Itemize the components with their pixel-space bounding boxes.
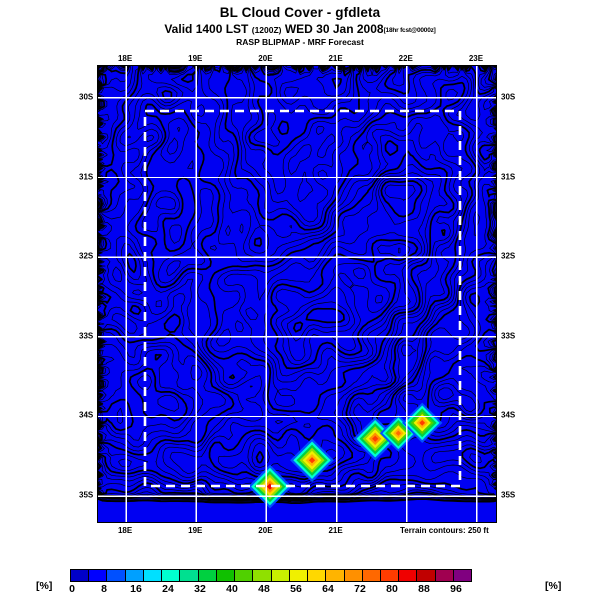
- colorbar-segment-19: [417, 570, 435, 581]
- map-plot-area[interactable]: [97, 65, 497, 523]
- cloud-cover-hotspots: [248, 403, 442, 509]
- colorbar-segment-16: [363, 570, 381, 581]
- colorbar-segment-1: [89, 570, 107, 581]
- lon-label-bottom-21E: 21E: [328, 526, 342, 535]
- map-overlay: [98, 66, 497, 523]
- colorbar-segment-7: [199, 570, 217, 581]
- lat-label-left-35S: 35S: [79, 491, 93, 500]
- lat-label-left-34S: 34S: [79, 411, 93, 420]
- colorbar-segment-8: [217, 570, 235, 581]
- colorbar-segment-14: [326, 570, 344, 581]
- colorbar-tick-72: 72: [354, 583, 366, 595]
- colorbar-tick-80: 80: [386, 583, 398, 595]
- valid-prefix: Valid 1400 LST: [164, 22, 248, 36]
- colorbar-segment-15: [345, 570, 363, 581]
- lon-label-bottom-19E: 19E: [188, 526, 202, 535]
- model-line: RASP BLIPMAP - MRF Forecast: [0, 38, 600, 47]
- colorbar-segment-2: [107, 570, 125, 581]
- lat-label-left-30S: 30S: [79, 92, 93, 101]
- colorbar[interactable]: [70, 569, 472, 582]
- colorbar-segment-0: [71, 570, 89, 581]
- lon-label-top-22E: 22E: [399, 54, 413, 63]
- unit-label-left: [%]: [36, 580, 52, 592]
- colorbar-segment-21: [454, 570, 471, 581]
- lat-label-left-32S: 32S: [79, 252, 93, 261]
- lon-label-top-23E: 23E: [469, 54, 483, 63]
- forecast-note: [18hr fcst@0000z]: [384, 27, 436, 34]
- lon-label-bottom-20E: 20E: [258, 526, 272, 535]
- lat-label-right-31S: 31S: [501, 172, 515, 181]
- valid-day: WED 30 Jan 2008: [285, 22, 384, 36]
- colorbar-tick-32: 32: [194, 583, 206, 595]
- lon-label-top-20E: 20E: [258, 54, 272, 63]
- lon-label-top-19E: 19E: [188, 54, 202, 63]
- colorbar-segment-18: [399, 570, 417, 581]
- colorbar-segment-5: [162, 570, 180, 581]
- terrain-contour-note: Terrain contours: 250 ft: [400, 526, 489, 535]
- colorbar-segment-13: [308, 570, 326, 581]
- lat-label-left-33S: 33S: [79, 331, 93, 340]
- lat-label-left-31S: 31S: [79, 172, 93, 181]
- colorbar-tick-0: 0: [69, 583, 75, 595]
- valid-time-line: Valid 1400 LST (1200Z) WED 30 Jan 2008[1…: [0, 23, 600, 36]
- lat-label-right-30S: 30S: [501, 92, 515, 101]
- lon-label-bottom-18E: 18E: [118, 526, 132, 535]
- colorbar-segment-10: [253, 570, 271, 581]
- colorbar-segment-9: [235, 570, 253, 581]
- colorbar-tick-88: 88: [418, 583, 430, 595]
- colorbar-tick-48: 48: [258, 583, 270, 595]
- colorbar-segment-12: [290, 570, 308, 581]
- lat-label-right-35S: 35S: [501, 491, 515, 500]
- valid-utc: (1200Z): [252, 25, 282, 35]
- colorbar-segment-6: [180, 570, 198, 581]
- colorbar-tick-64: 64: [322, 583, 334, 595]
- colorbar-segment-11: [272, 570, 290, 581]
- colorbar-tick-16: 16: [130, 583, 142, 595]
- lon-label-top-18E: 18E: [118, 54, 132, 63]
- colorbar-tick-24: 24: [162, 583, 174, 595]
- colorbar-tick-8: 8: [101, 583, 107, 595]
- colorbar-segment-17: [381, 570, 399, 581]
- colorbar-segment-4: [144, 570, 162, 581]
- colorbar-segment-3: [126, 570, 144, 581]
- lat-label-right-32S: 32S: [501, 252, 515, 261]
- title-block: BL Cloud Cover - gfdleta Valid 1400 LST …: [0, 6, 600, 47]
- colorbar-tick-56: 56: [290, 583, 302, 595]
- lon-label-top-21E: 21E: [328, 54, 342, 63]
- page-title: BL Cloud Cover - gfdleta: [0, 6, 600, 20]
- colorbar-segment-20: [436, 570, 454, 581]
- colorbar-block: [%] [%] 081624324048566472808896: [0, 566, 600, 600]
- unit-label-right: [%]: [545, 580, 561, 592]
- colorbar-tick-96: 96: [450, 583, 462, 595]
- lat-label-right-33S: 33S: [501, 331, 515, 340]
- lat-label-right-34S: 34S: [501, 411, 515, 420]
- map-panel: [97, 65, 497, 523]
- colorbar-tick-40: 40: [226, 583, 238, 595]
